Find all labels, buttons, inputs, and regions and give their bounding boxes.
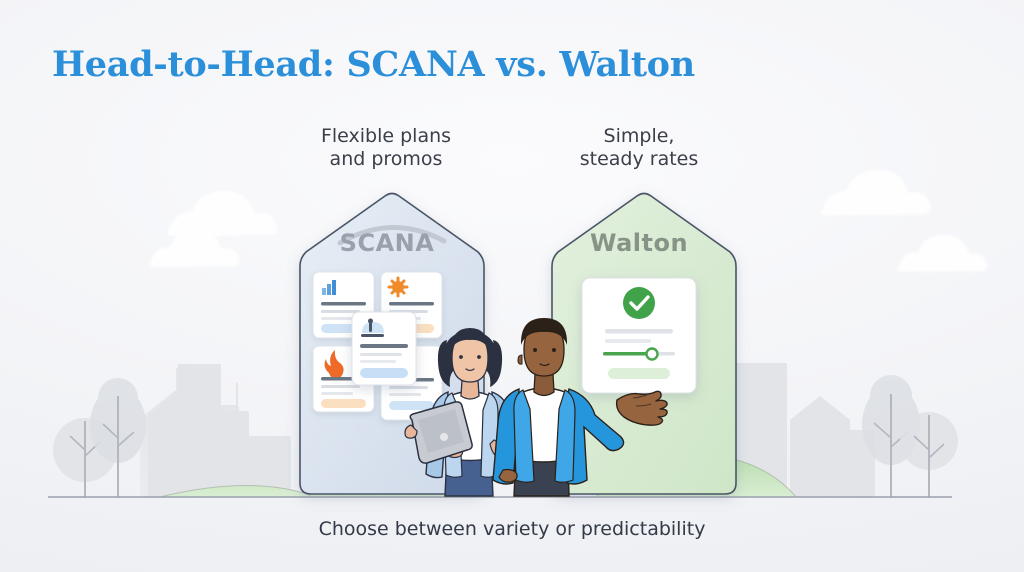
right-caption-line1: Simple, <box>534 125 744 148</box>
card-button <box>608 368 670 379</box>
card-button <box>360 368 408 378</box>
left-caption-line2: and promos <box>281 148 491 171</box>
brand-label-walton: Walton <box>539 229 739 257</box>
card-button <box>321 399 366 408</box>
cloud-icon <box>167 191 277 236</box>
page-title: Head-to-Head: SCANA vs. Walton <box>52 44 695 85</box>
tree-icon <box>900 412 958 497</box>
background-scenery <box>0 0 1024 572</box>
infographic-canvas: Head-to-Head: SCANA vs. Walton Flexible … <box>0 0 1024 572</box>
cloud-icon <box>897 235 987 272</box>
left-caption-line1: Flexible plans <box>281 125 491 148</box>
card-button <box>389 401 434 410</box>
sun-burst-icon <box>389 278 407 296</box>
check-circle-icon <box>623 287 655 319</box>
featured-card <box>352 312 416 385</box>
right-caption: Simple, steady rates <box>534 125 744 171</box>
tree-icon <box>90 378 146 497</box>
brand-label-scana: SCANA <box>287 229 487 257</box>
building-silhouette <box>148 364 291 497</box>
cloud-icon <box>821 170 931 215</box>
left-caption: Flexible plans and promos <box>281 125 491 171</box>
walton-feature-card <box>582 278 696 393</box>
bottom-caption: Choose between variety or predictability <box>0 518 1024 540</box>
right-caption-line2: steady rates <box>534 148 744 171</box>
